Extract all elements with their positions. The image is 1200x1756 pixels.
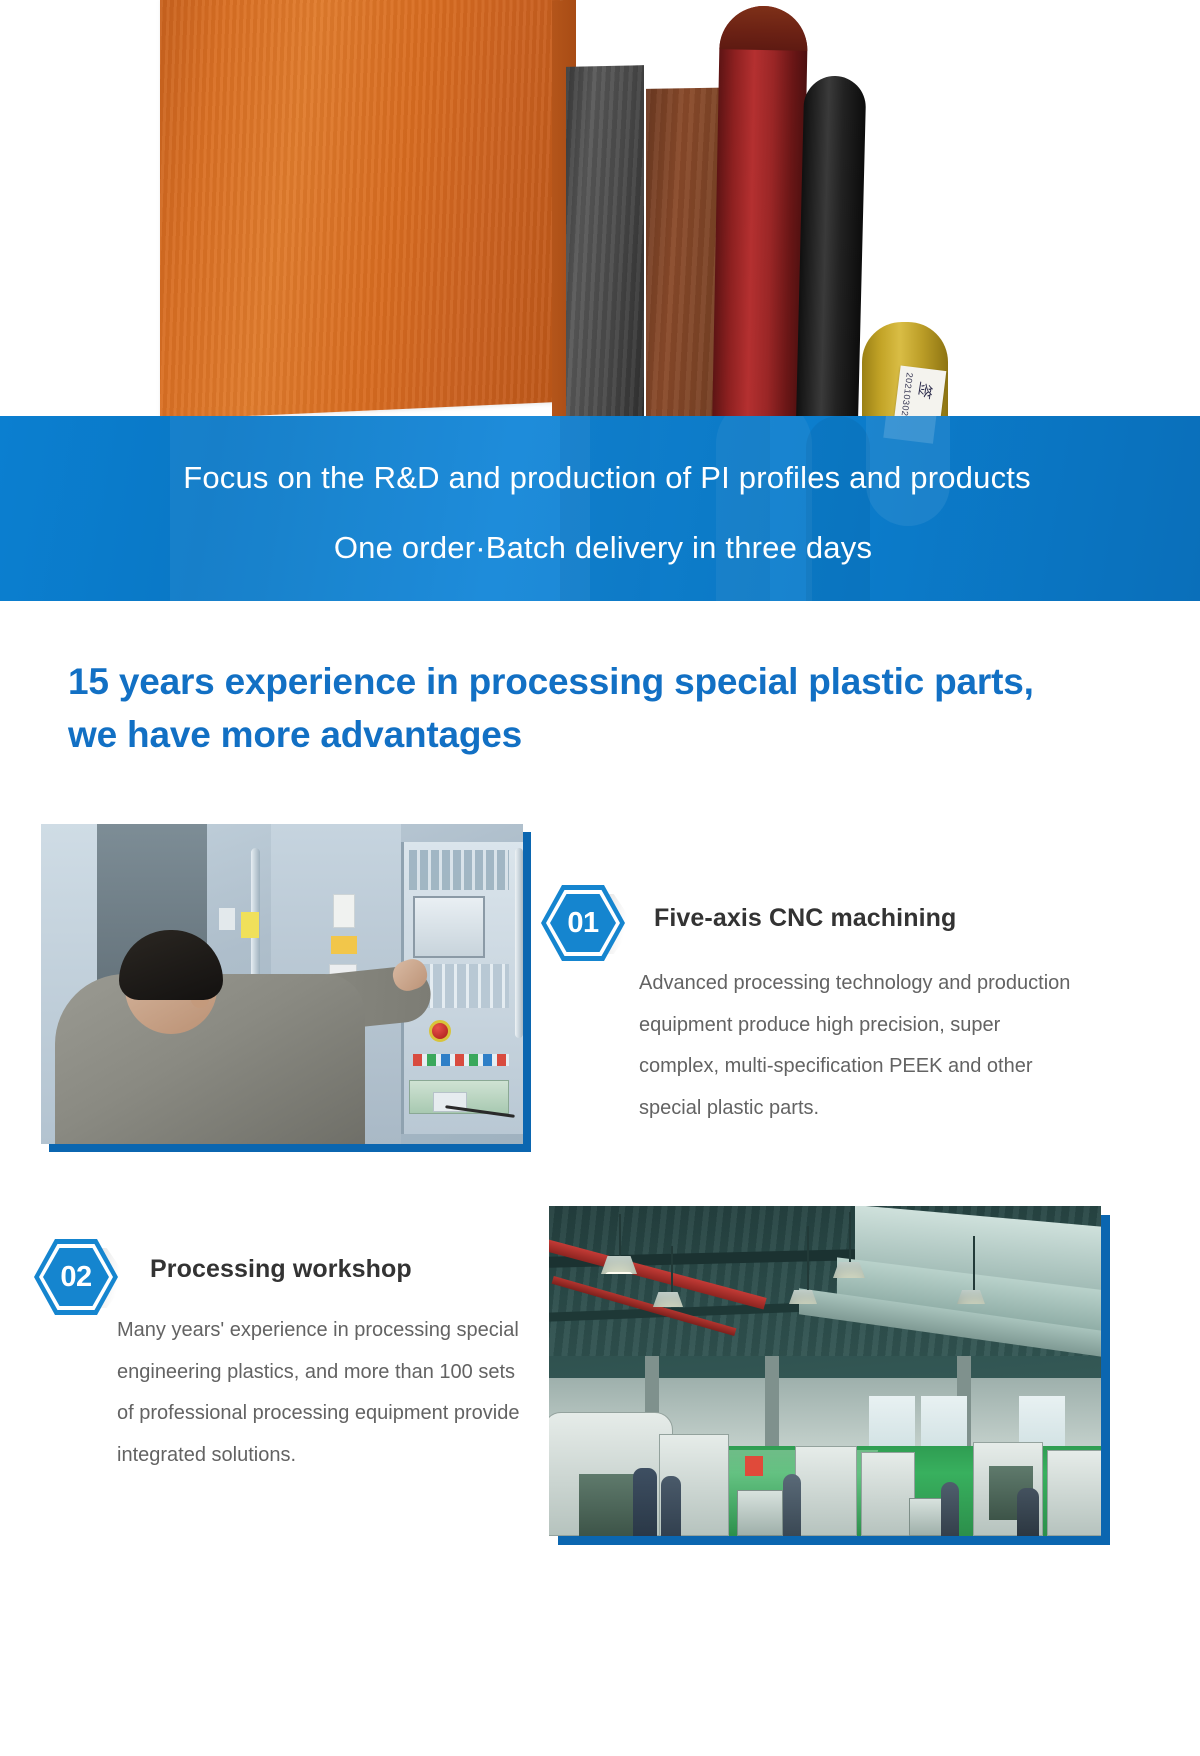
cnc-door-handle — [515, 848, 523, 1038]
worker-figure — [1017, 1488, 1039, 1536]
product-orange-sheet — [160, 0, 560, 420]
hexagon-badge-icon: 02 — [34, 1239, 118, 1315]
banner-headline-secondary: One order·Batch delivery in three days — [0, 530, 1200, 566]
section-headline: 15 years experience in processing specia… — [68, 656, 1068, 761]
feature-02-title: Processing workshop — [150, 1255, 412, 1284]
product-black-rod — [796, 75, 867, 440]
feature-number-label: 01 — [541, 885, 625, 961]
cnc-keypad-upper — [409, 850, 509, 890]
sticker-date-text: 20210302 — [900, 372, 915, 417]
feature-02-body: Many years' experience in processing spe… — [117, 1310, 527, 1476]
banner-decor-shape — [806, 416, 870, 601]
emergency-stop-button-icon — [429, 1020, 451, 1042]
product-detail-page: 20210302 签 Focus on the R&D and producti… — [0, 0, 1200, 1756]
feature-01-title: Five-axis CNC machining — [654, 904, 956, 933]
cnc-machine — [795, 1446, 857, 1536]
feature-01-body: Advanced processing technology and produ… — [639, 963, 1077, 1129]
cnc-warning-sticker — [333, 894, 355, 928]
feature-02-badge: 02 — [34, 1239, 118, 1315]
feature-01-image — [41, 824, 523, 1144]
banner-decor-shape — [170, 416, 590, 601]
banner-headline-primary: Focus on the R&D and production of PI pr… — [0, 460, 1200, 496]
hero-photo-stage: 20210302 签 — [0, 0, 1200, 440]
lamp-stem — [671, 1246, 673, 1294]
lamp-stem — [619, 1214, 621, 1258]
hexagon-badge-icon: 01 — [541, 885, 625, 961]
feature-number-label: 02 — [34, 1239, 118, 1315]
product-red-rod — [712, 5, 808, 440]
worker-figure — [941, 1482, 959, 1536]
workshop-cart — [737, 1490, 783, 1536]
cnc-machine — [861, 1452, 915, 1536]
tagline-banner: Focus on the R&D and production of PI pr… — [0, 416, 1200, 601]
cnc-warning-sticker — [241, 912, 259, 938]
cnc-warning-sticker — [219, 908, 235, 930]
banner-decor-shape — [716, 416, 812, 601]
cnc-machine — [1047, 1450, 1101, 1536]
cnc-display-screen — [413, 896, 485, 958]
lamp-stem — [849, 1212, 851, 1264]
hero-product-photo: 20210302 签 — [0, 0, 1200, 440]
feature-01-badge: 01 — [541, 885, 625, 961]
cnc-button-row — [413, 1054, 509, 1066]
worker-figure — [633, 1468, 657, 1536]
lamp-stem — [807, 1226, 809, 1292]
workshop-photo — [549, 1206, 1101, 1536]
banner-decor-shape — [560, 416, 650, 601]
worker-figure — [661, 1476, 681, 1536]
machine-indicator-light — [745, 1456, 763, 1476]
worker-figure — [783, 1474, 801, 1536]
feature-02-image — [549, 1206, 1101, 1536]
cnc-warning-sticker — [331, 936, 357, 954]
product-gray-sheet — [566, 65, 644, 440]
cnc-machining-photo — [41, 824, 523, 1144]
sticker-signature-text: 签 — [914, 380, 937, 398]
lamp-stem — [973, 1236, 975, 1292]
